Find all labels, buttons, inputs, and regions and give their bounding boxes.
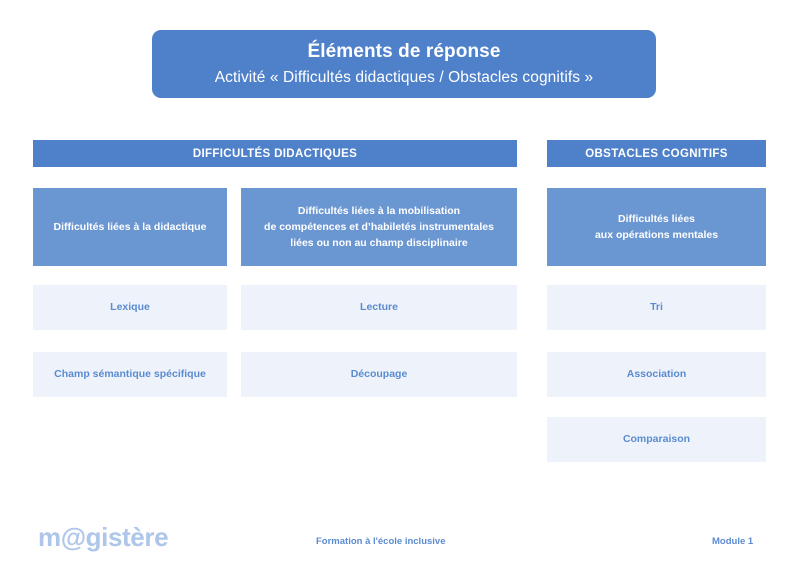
card-association: Association: [547, 352, 766, 397]
column-header-difficultes-didactiques: DIFFICULTÉS DIDACTIQUES: [33, 140, 517, 167]
card-text: Difficultés liées aux opérations mentale…: [595, 211, 718, 244]
card-decoupage: Découpage: [241, 352, 517, 397]
card-line: Difficultés liées à la mobilisation: [264, 203, 494, 219]
card-comparaison: Comparaison: [547, 417, 766, 462]
footer-module-label: Module 1: [712, 536, 753, 547]
card-tri: Tri: [547, 285, 766, 330]
column-header-obstacles-cognitifs: OBSTACLES COGNITIFS: [547, 140, 766, 167]
slide-subtitle: Activité « Difficultés didactiques / Obs…: [215, 68, 594, 88]
card-line: de compétences et d’habiletés instrument…: [264, 219, 494, 235]
card-difficultes-operations-mentales: Difficultés liées aux opérations mentale…: [547, 188, 766, 266]
card-lexique: Lexique: [33, 285, 227, 330]
card-line: liées ou non au champ disciplinaire: [264, 235, 494, 251]
slide-canvas: Éléments de réponse Activité « Difficult…: [0, 0, 800, 566]
card-text: Difficultés liées à la didactique: [54, 219, 207, 235]
slide-title: Éléments de réponse: [307, 40, 500, 64]
footer-course-name: Formation à l'école inclusive: [316, 536, 446, 547]
card-line: Difficultés liées à la didactique: [54, 219, 207, 235]
card-lecture: Lecture: [241, 285, 517, 330]
card-text: Difficultés liées à la mobilisation de c…: [264, 203, 494, 252]
card-line: aux opérations mentales: [595, 227, 718, 243]
card-difficultes-mobilisation: Difficultés liées à la mobilisation de c…: [241, 188, 517, 266]
magistere-logo: m@gistère: [38, 524, 168, 550]
card-line: Difficultés liées: [595, 211, 718, 227]
slide-title-banner: Éléments de réponse Activité « Difficult…: [152, 30, 656, 98]
card-champ-semantique: Champ sémantique spécifique: [33, 352, 227, 397]
card-difficultes-didactique: Difficultés liées à la didactique: [33, 188, 227, 266]
